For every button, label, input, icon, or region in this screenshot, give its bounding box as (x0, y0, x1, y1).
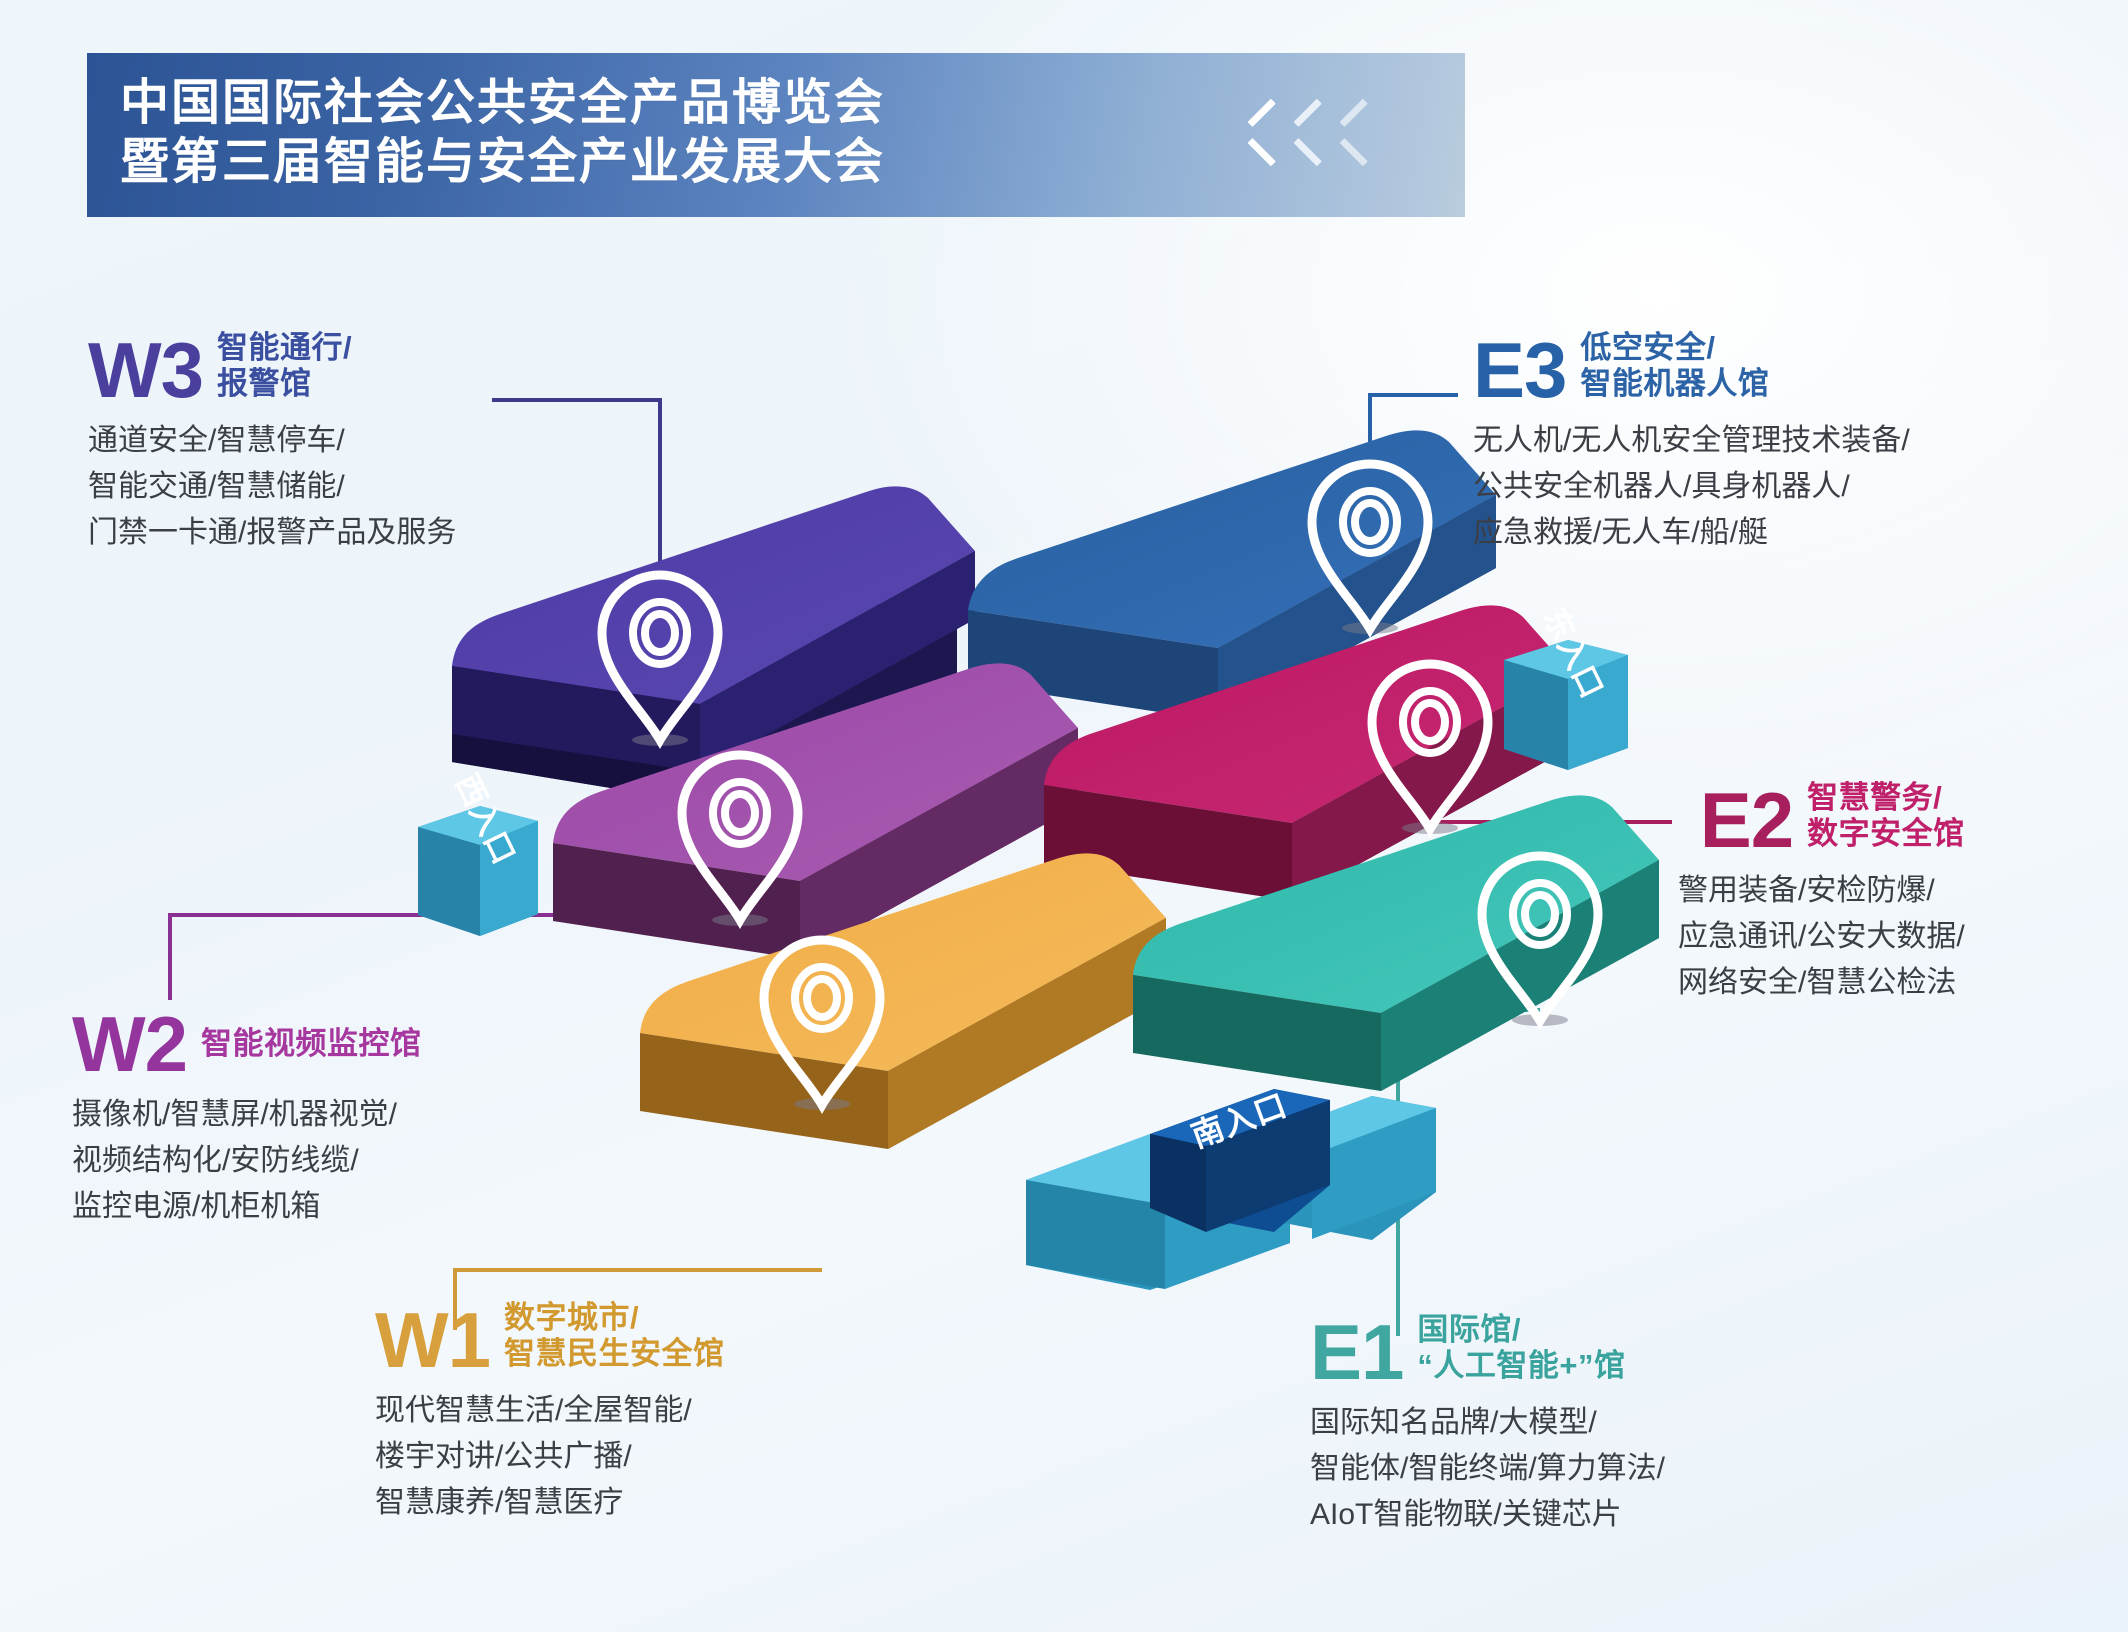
hall-desc-e2-line1: 警用装备/安检防爆/ (1678, 868, 1965, 914)
hall-code-e1: E1 (1310, 1320, 1403, 1386)
hall-name-e1-line2: “人工智能+”馆 (1417, 1348, 1625, 1384)
hall-callout-e1[interactable]: E1 国际馆/ “人工智能+”馆 国际知名品牌/大模型/ 智能体/智能终端/算力… (1310, 1312, 1665, 1538)
hall-desc-e3-line2: 公共安全机器人/具身机器人/ (1473, 464, 1910, 510)
hall-name-w3-line2: 报警馆 (217, 366, 352, 402)
hall-name-e3: 低空安全/ 智能机器人馆 (1580, 330, 1769, 404)
hall-callout-e2[interactable]: E2 智慧警务/ 数字安全馆 警用装备/安检防爆/ 应急通讯/公安大数据/ 网络… (1678, 780, 1965, 1006)
hall-name-w2-line1: 智能视频监控馆 (201, 1026, 422, 1062)
hall-desc-e1: 国际知名品牌/大模型/ 智能体/智能终端/算力算法/ AIoT智能物联/关键芯片 (1310, 1400, 1665, 1538)
hall-name-e1: 国际馆/ “人工智能+”馆 (1417, 1312, 1625, 1386)
hall-desc-e2-line3: 网络安全/智慧公检法 (1678, 960, 1965, 1006)
hall-callout-w3[interactable]: W3 智能通行/ 报警馆 通道安全/智慧停车/ 智能交通/智慧储能/ 门禁一卡通… (88, 330, 456, 556)
hall-header-e2: E2 智慧警务/ 数字安全馆 (1678, 780, 1965, 854)
entrance-south[interactable]: 南入口 (1026, 1087, 1436, 1290)
hall-header-w1: W1 数字城市/ 智慧民生安全馆 (375, 1300, 725, 1374)
hall-name-e2-line1: 智慧警务/ (1807, 780, 1965, 816)
hall-name-e2: 智慧警务/ 数字安全馆 (1807, 780, 1965, 854)
hall-header-w2: W2 智能视频监控馆 (72, 1012, 422, 1078)
hall-desc-w1: 现代智慧生活/全屋智能/ 楼宇对讲/公共广播/ 智慧康养/智慧医疗 (375, 1388, 725, 1526)
hall-name-e2-line2: 数字安全馆 (1807, 816, 1965, 852)
hall-code-e2: E2 (1700, 788, 1793, 854)
hall-name-e1-line1: 国际馆/ (1417, 1312, 1625, 1348)
hall-code-e3: E3 (1473, 338, 1566, 404)
hall-desc-w2: 摄像机/智慧屏/机器视觉/ 视频结构化/安防线缆/ 监控电源/机柜机箱 (72, 1092, 422, 1230)
hall-desc-w1-line3: 智慧康养/智慧医疗 (375, 1480, 725, 1526)
hall-desc-w3: 通道安全/智慧停车/ 智能交通/智慧储能/ 门禁一卡通/报警产品及服务 (88, 418, 456, 556)
hall-desc-e2-line2: 应急通讯/公安大数据/ (1678, 914, 1965, 960)
hall-name-w1: 数字城市/ 智慧民生安全馆 (504, 1300, 725, 1374)
hall-callout-w2[interactable]: W2 智能视频监控馆 摄像机/智慧屏/机器视觉/ 视频结构化/安防线缆/ 监控电… (72, 1012, 422, 1230)
hall-header-e1: E1 国际馆/ “人工智能+”馆 (1310, 1312, 1665, 1386)
hall-desc-w1-line1: 现代智慧生活/全屋智能/ (375, 1388, 725, 1434)
hall-name-w3: 智能通行/ 报警馆 (217, 330, 352, 404)
hall-callout-w1[interactable]: W1 数字城市/ 智慧民生安全馆 现代智慧生活/全屋智能/ 楼宇对讲/公共广播/… (375, 1300, 725, 1526)
hall-code-w2: W2 (72, 1012, 187, 1078)
entrance-west[interactable]: 西入口 (418, 769, 538, 936)
hall-desc-w1-line2: 楼宇对讲/公共广播/ (375, 1434, 725, 1480)
hall-name-w2: 智能视频监控馆 (201, 1026, 422, 1064)
hall-callout-e3[interactable]: E3 低空安全/ 智能机器人馆 无人机/无人机安全管理技术装备/ 公共安全机器人… (1473, 330, 1910, 556)
hall-name-e3-line1: 低空安全/ (1580, 330, 1769, 366)
hall-desc-w3-line2: 智能交通/智慧储能/ (88, 464, 456, 510)
hall-desc-e3-line1: 无人机/无人机安全管理技术装备/ (1473, 418, 1910, 464)
hall-code-w1: W1 (375, 1308, 490, 1374)
hall-desc-e3-line3: 应急救援/无人车/船/艇 (1473, 510, 1910, 556)
hall-desc-e1-line3: AIoT智能物联/关键芯片 (1310, 1492, 1665, 1538)
hall-code-w3: W3 (88, 338, 203, 404)
hall-desc-w3-line3: 门禁一卡通/报警产品及服务 (88, 510, 456, 556)
hall-desc-e2: 警用装备/安检防爆/ 应急通讯/公安大数据/ 网络安全/智慧公检法 (1678, 868, 1965, 1006)
hall-name-e3-line2: 智能机器人馆 (1580, 366, 1769, 402)
hall-desc-e1-line2: 智能体/智能终端/算力算法/ (1310, 1446, 1665, 1492)
hall-header-w3: W3 智能通行/ 报警馆 (88, 330, 456, 404)
hall-desc-w3-line1: 通道安全/智慧停车/ (88, 418, 456, 464)
hall-desc-w2-line3: 监控电源/机柜机箱 (72, 1184, 422, 1230)
hall-desc-w2-line1: 摄像机/智慧屏/机器视觉/ (72, 1092, 422, 1138)
hall-desc-e3: 无人机/无人机安全管理技术装备/ 公共安全机器人/具身机器人/ 应急救援/无人车… (1473, 418, 1910, 556)
hall-name-w1-line1: 数字城市/ (504, 1300, 725, 1336)
hall-name-w1-line2: 智慧民生安全馆 (504, 1336, 725, 1372)
hall-name-w3-line1: 智能通行/ (217, 330, 352, 366)
hall-desc-e1-line1: 国际知名品牌/大模型/ (1310, 1400, 1665, 1446)
hall-header-e3: E3 低空安全/ 智能机器人馆 (1473, 330, 1910, 404)
hall-desc-w2-line2: 视频结构化/安防线缆/ (72, 1138, 422, 1184)
